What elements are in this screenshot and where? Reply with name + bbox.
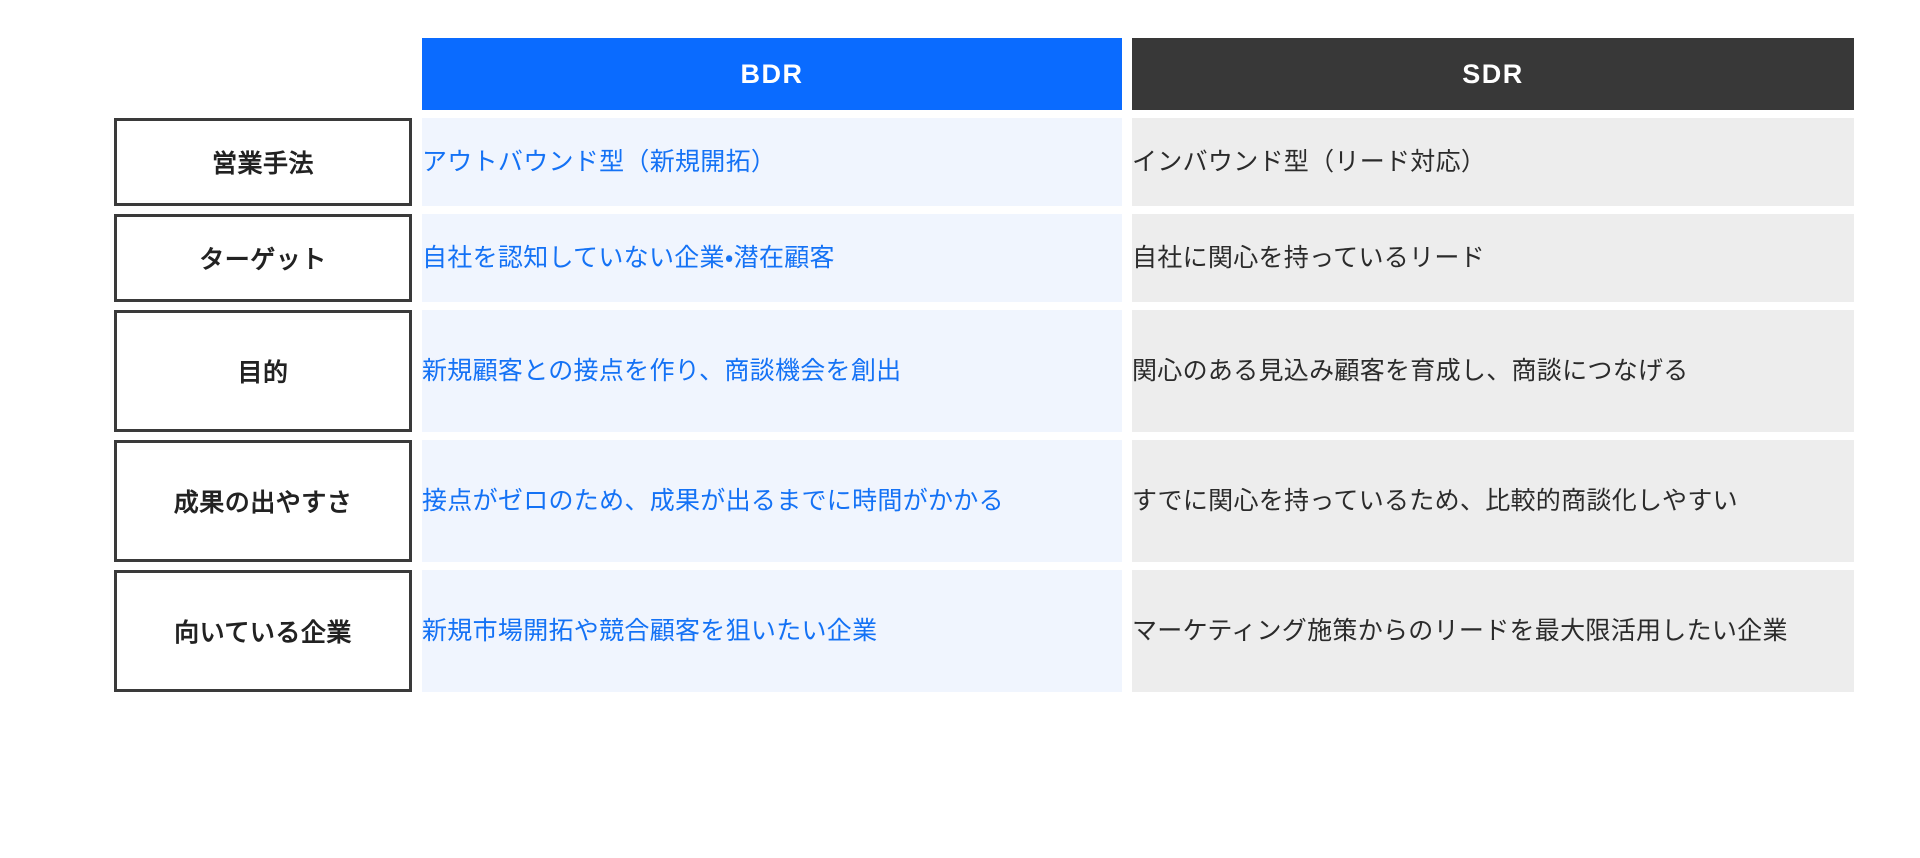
cell-sdr-purpose: 関心のある見込み顧客を育成し、商談につなげる — [1132, 310, 1854, 432]
row-label-suited-companies: 向いている企業 — [114, 570, 412, 692]
cell-bdr-suited-companies: 新規市場開拓や競合顧客を狙いたい企業 — [422, 570, 1122, 692]
table-body: 営業手法 アウトバウンド型（新規開拓） インバウンド型（リード対応） ターゲット… — [114, 118, 1854, 692]
table-row: 向いている企業 新規市場開拓や競合顧客を狙いたい企業 マーケティング施策からのリ… — [114, 570, 1854, 692]
row-label-ease-of-results: 成果の出やすさ — [114, 440, 412, 562]
column-header-sdr: SDR — [1132, 38, 1854, 110]
table-header-row: BDR SDR — [114, 38, 1854, 110]
cell-bdr-target: 自社を認知していない企業・潜在顧客 — [422, 214, 1122, 302]
table-row: 営業手法 アウトバウンド型（新規開拓） インバウンド型（リード対応） — [114, 118, 1854, 206]
bdr-sdr-comparison-table: BDR SDR 営業手法 アウトバウンド型（新規開拓） インバウンド型（リード対… — [104, 30, 1864, 700]
comparison-table-container: BDR SDR 営業手法 アウトバウンド型（新規開拓） インバウンド型（リード対… — [0, 0, 1920, 858]
table-row: 目的 新規顧客との接点を作り、商談機会を創出 関心のある見込み顧客を育成し、商談… — [114, 310, 1854, 432]
cell-bdr-ease-of-results: 接点がゼロのため、成果が出るまでに時間がかかる — [422, 440, 1122, 562]
table-row: 成果の出やすさ 接点がゼロのため、成果が出るまでに時間がかかる すでに関心を持っ… — [114, 440, 1854, 562]
column-header-bdr: BDR — [422, 38, 1122, 110]
row-label-purpose: 目的 — [114, 310, 412, 432]
table-corner-cell — [114, 38, 412, 110]
cell-bdr-purpose: 新規顧客との接点を作り、商談機会を創出 — [422, 310, 1122, 432]
table-header: BDR SDR — [114, 38, 1854, 110]
cell-sdr-suited-companies: マーケティング施策からのリードを最大限活用したい企業 — [1132, 570, 1854, 692]
cell-bdr-sales-method: アウトバウンド型（新規開拓） — [422, 118, 1122, 206]
cell-sdr-target: 自社に関心を持っているリード — [1132, 214, 1854, 302]
row-label-sales-method: 営業手法 — [114, 118, 412, 206]
row-label-target: ターゲット — [114, 214, 412, 302]
cell-sdr-sales-method: インバウンド型（リード対応） — [1132, 118, 1854, 206]
table-row: ターゲット 自社を認知していない企業・潜在顧客 自社に関心を持っているリード — [114, 214, 1854, 302]
cell-sdr-ease-of-results: すでに関心を持っているため、比較的商談化しやすい — [1132, 440, 1854, 562]
